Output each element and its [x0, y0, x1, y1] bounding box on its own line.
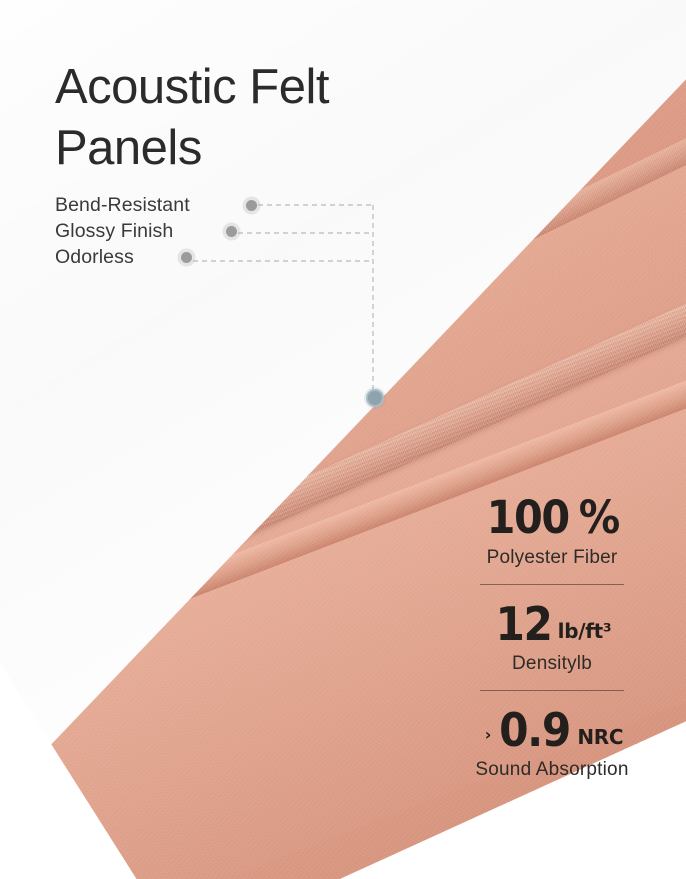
callout-dot-icon	[226, 226, 237, 237]
spec-unit: NRC	[577, 726, 623, 748]
spec-sound-absorption: › 0.9 NRC Sound Absorption	[432, 704, 672, 782]
feature-label: Odorless	[55, 246, 134, 269]
spec-density: 12 lb/ft³ Densitylb	[432, 598, 672, 676]
spec-label: Sound Absorption	[432, 758, 672, 782]
spec-value: 12	[495, 598, 551, 650]
callout-dot-icon	[246, 200, 257, 211]
spec-unit: %	[579, 492, 619, 544]
spec-value-group: 12 lb/ft³	[432, 598, 672, 650]
spec-prefix: ›	[485, 725, 492, 744]
spec-label: Polyester Fiber	[432, 546, 672, 570]
spec-divider	[480, 690, 624, 691]
feature-item-odorless: Odorless	[55, 244, 395, 270]
spec-unit: lb/ft³	[558, 620, 612, 642]
spec-value-group: › 0.9 NRC	[432, 704, 672, 756]
product-marketing-image: Acoustic Felt Panels Bend-Resistant Glos…	[0, 0, 686, 879]
page-title: Acoustic Felt Panels	[55, 57, 485, 179]
spec-value-group: 100%	[432, 492, 672, 544]
spec-polyester-fiber: 100% Polyester Fiber	[432, 492, 672, 570]
feature-label: Glossy Finish	[55, 220, 173, 243]
feature-label: Bend-Resistant	[55, 194, 190, 217]
spec-divider	[480, 584, 624, 585]
spec-value: 100	[487, 492, 569, 544]
spec-label: Densitylb	[432, 652, 672, 676]
feature-item-glossy-finish: Glossy Finish	[55, 218, 395, 244]
feature-item-bend-resistant: Bend-Resistant	[55, 192, 395, 218]
callout-dot-icon	[181, 252, 192, 263]
title-line-1: Acoustic Felt	[55, 57, 485, 118]
callout-endpoint-dot-icon	[366, 389, 384, 407]
spec-value: 0.9	[499, 704, 570, 756]
feature-list: Bend-Resistant Glossy Finish Odorless	[55, 192, 395, 270]
spec-list: 100% Polyester Fiber 12 lb/ft³ Densitylb…	[432, 492, 672, 782]
title-line-2: Panels	[55, 118, 485, 179]
